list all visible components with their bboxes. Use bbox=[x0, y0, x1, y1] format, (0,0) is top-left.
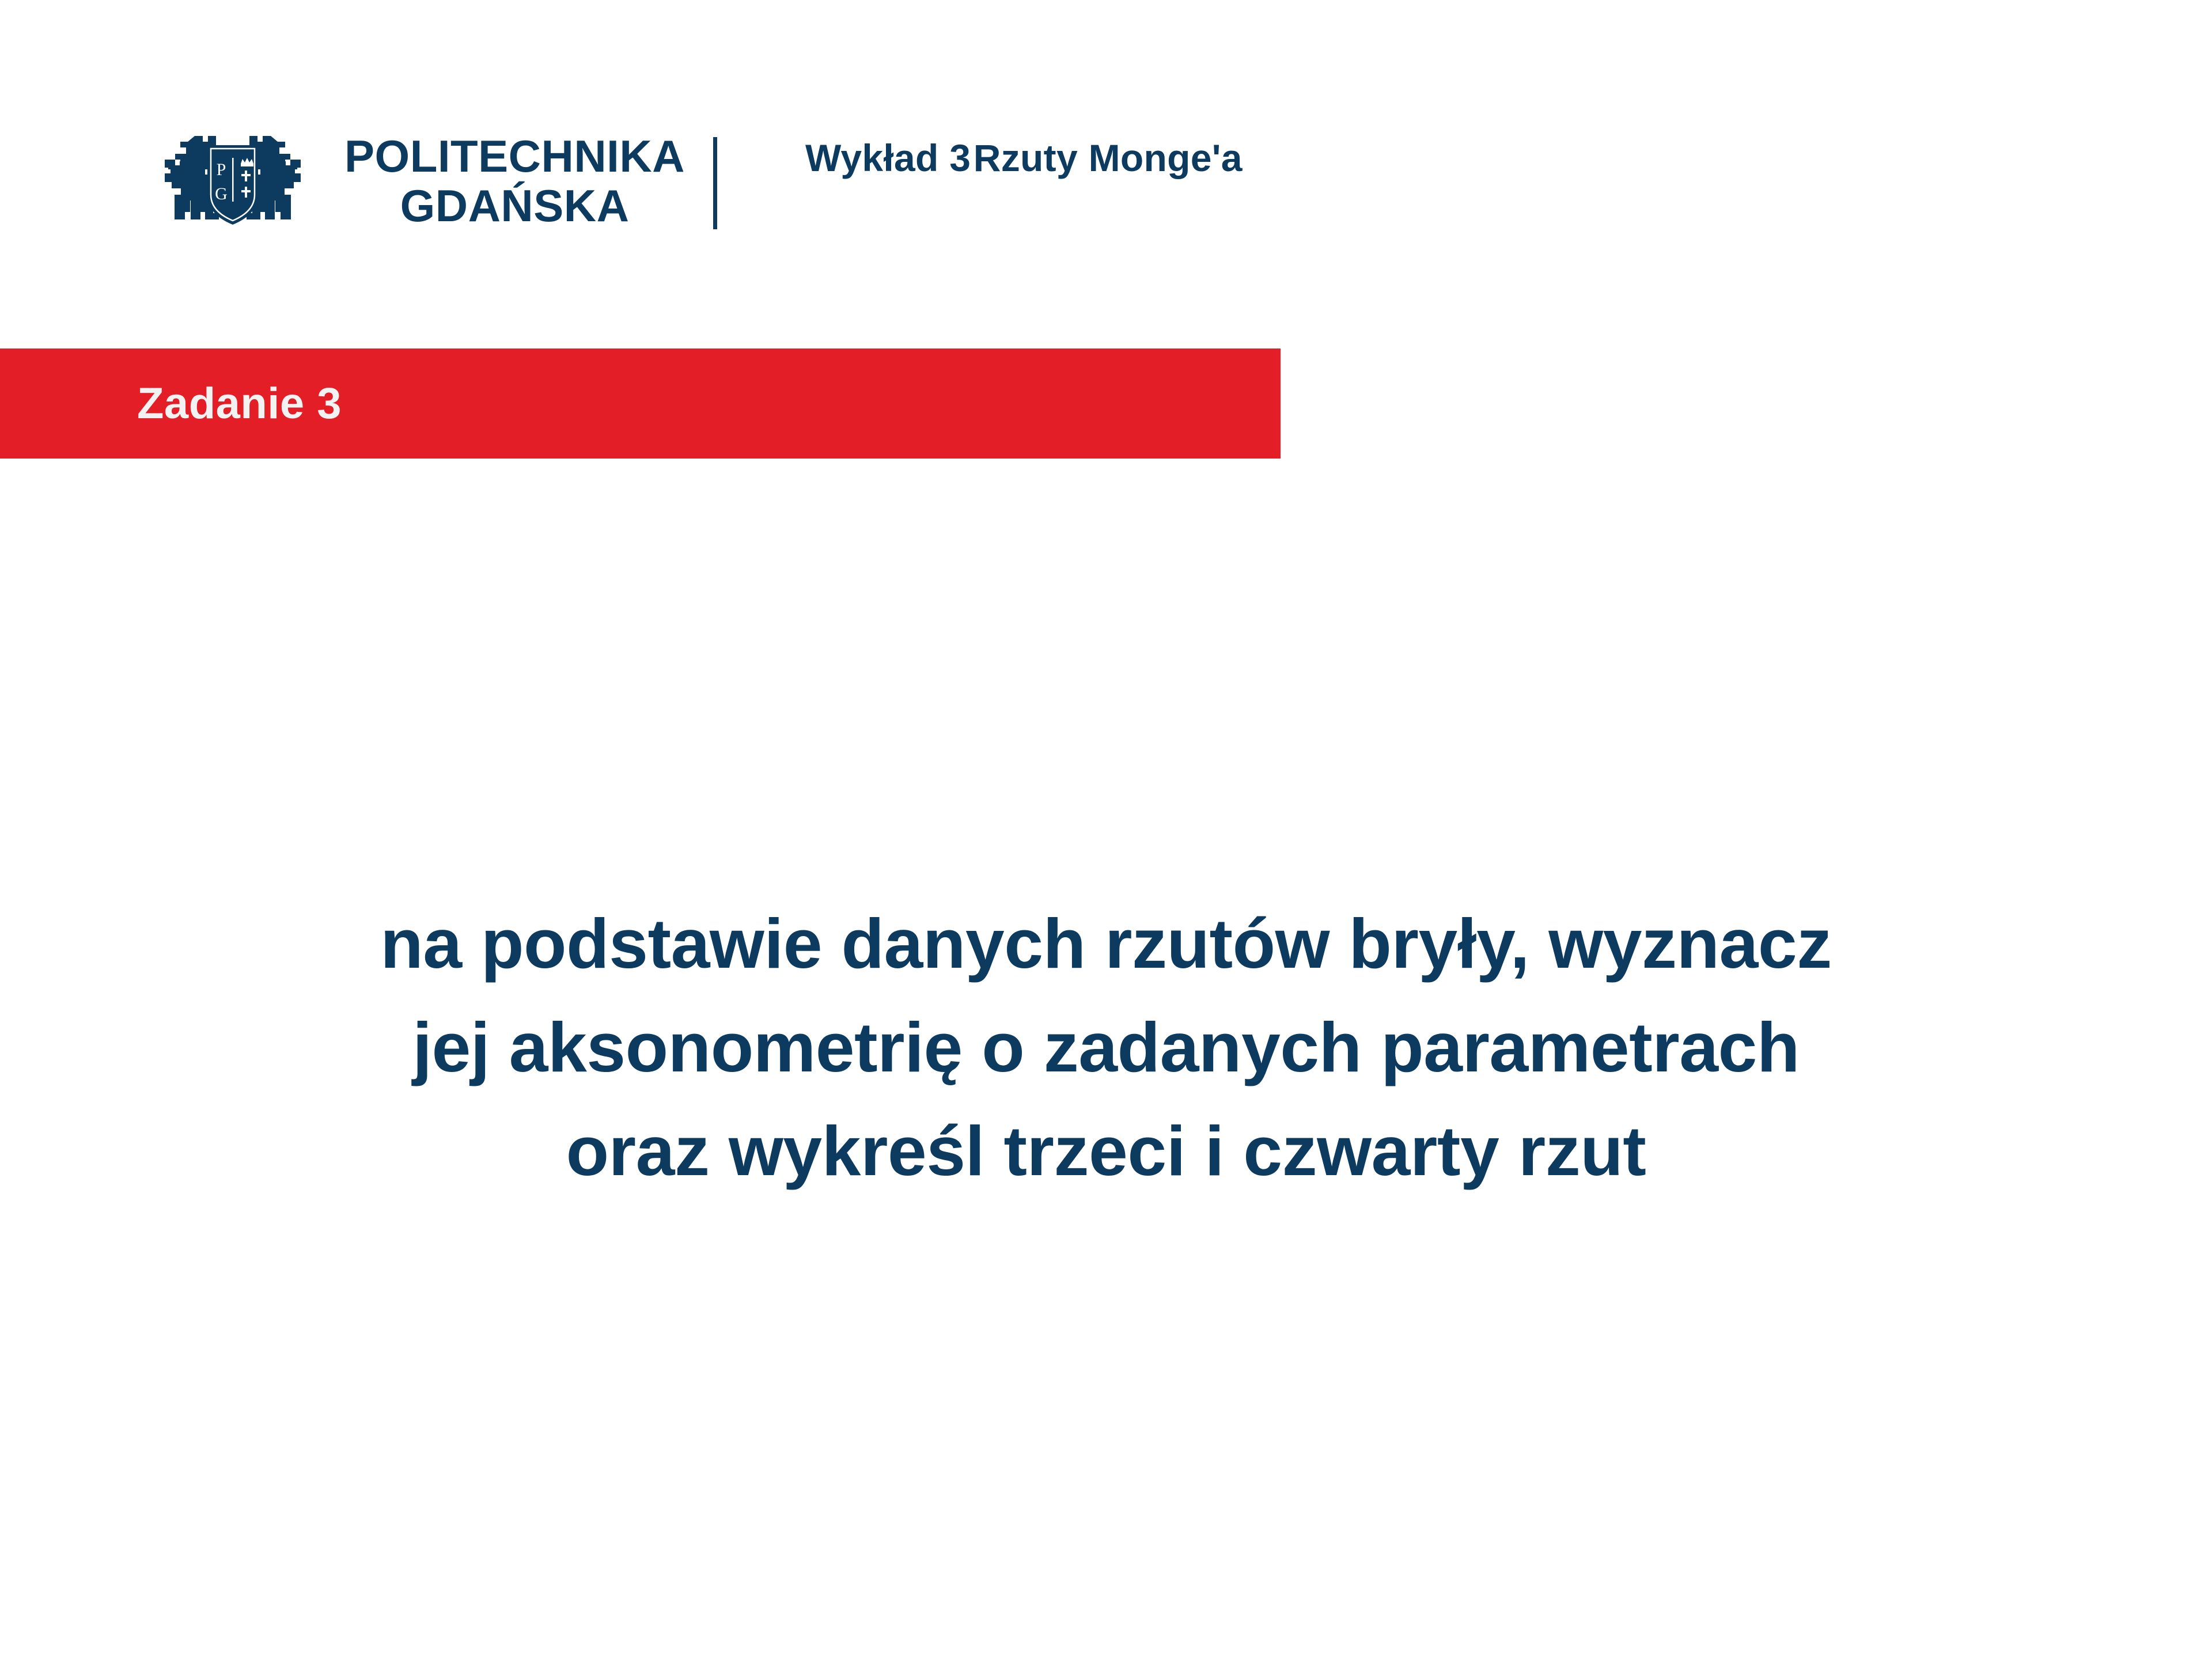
university-brand-lockup: P G POLITECHNIKA GDAŃSKA bbox=[131, 128, 685, 233]
slide-header: P G POLITECHNIKA GDAŃSKA Wykład 3 Rzu bbox=[0, 0, 2212, 300]
task-banner-label: Zadanie 3 bbox=[137, 382, 342, 426]
university-name-line-2: GDAŃSKA bbox=[400, 181, 630, 230]
slide-canvas: P G POLITECHNIKA GDAŃSKA Wykład 3 Rzu bbox=[0, 0, 2212, 1659]
task-banner: Zadanie 3 bbox=[0, 349, 1281, 459]
university-name-line-1: POLITECHNIKA bbox=[344, 131, 685, 181]
lecture-title-block: Wykład 3 Rzuty Monge'a bbox=[805, 131, 1243, 184]
pg-coat-of-arms-icon: P G bbox=[131, 128, 334, 233]
task-description-line-3: oraz wykreśl trzeci i czwarty rzut bbox=[0, 1099, 2212, 1203]
university-wordmark: POLITECHNIKA GDAŃSKA bbox=[344, 128, 685, 230]
lecture-subject: Rzuty Monge'a bbox=[974, 137, 1243, 179]
task-description-line-2: jej aksonometrię o zadanych parametrach bbox=[0, 995, 2212, 1099]
vertical-divider-icon bbox=[713, 137, 717, 229]
task-description-line-1: na podstawie danych rzutów bryły, wyznac… bbox=[0, 892, 2212, 995]
svg-text:G: G bbox=[215, 184, 228, 203]
task-description: na podstawie danych rzutów bryły, wyznac… bbox=[0, 892, 2212, 1203]
lecture-number: Wykład 3 bbox=[805, 137, 971, 179]
svg-text:P: P bbox=[217, 160, 226, 179]
